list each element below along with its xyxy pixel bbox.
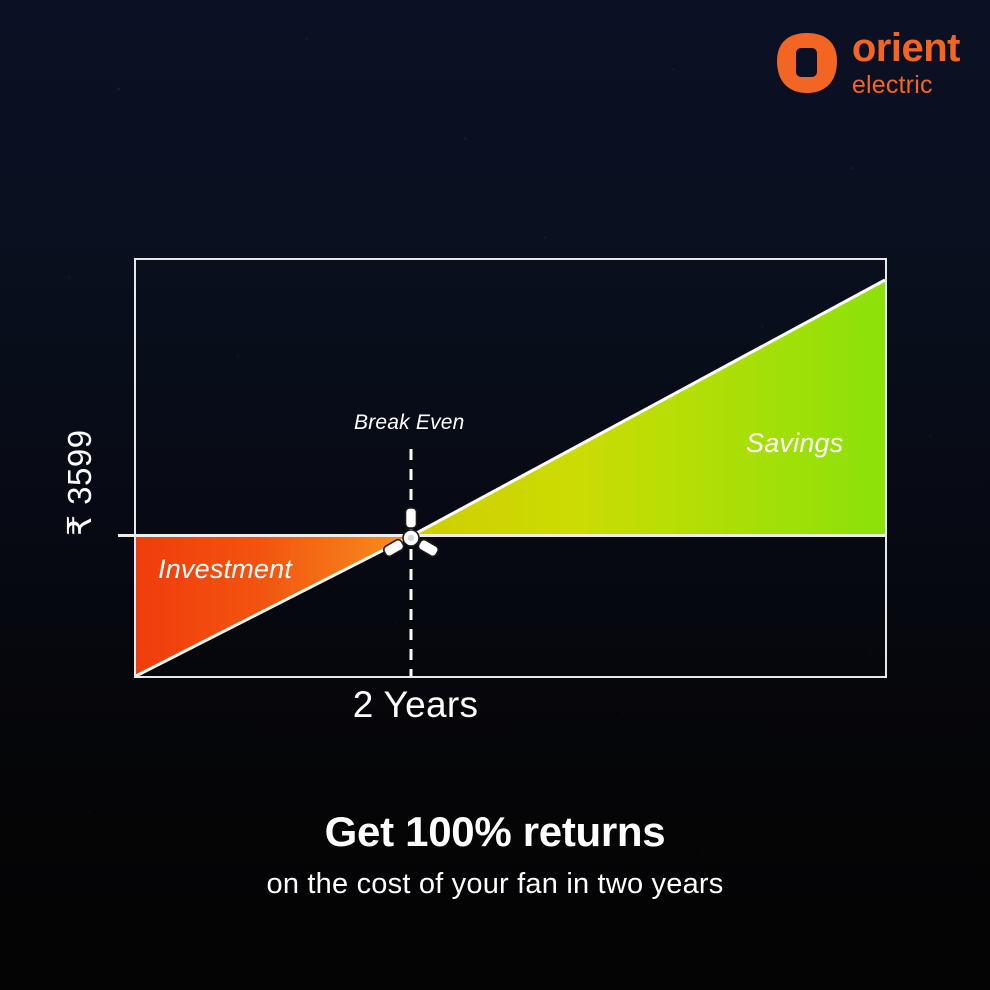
breakeven-label: Break Even	[354, 411, 465, 435]
subheadline: on the cost of your fan in two years	[0, 868, 990, 901]
returns-chart: Break Even Investment Savings ₹ 3599 2 Y…	[0, 0, 990, 760]
savings-label: Savings	[746, 428, 843, 459]
y-axis-label: ₹ 3599	[60, 429, 99, 536]
plot-frame	[134, 258, 887, 678]
headline: Get 100% returns	[0, 808, 990, 856]
x-axis-label: 2 Years	[134, 684, 697, 726]
poster-canvas: orient electric	[0, 0, 990, 990]
investment-label: Investment	[158, 554, 292, 585]
